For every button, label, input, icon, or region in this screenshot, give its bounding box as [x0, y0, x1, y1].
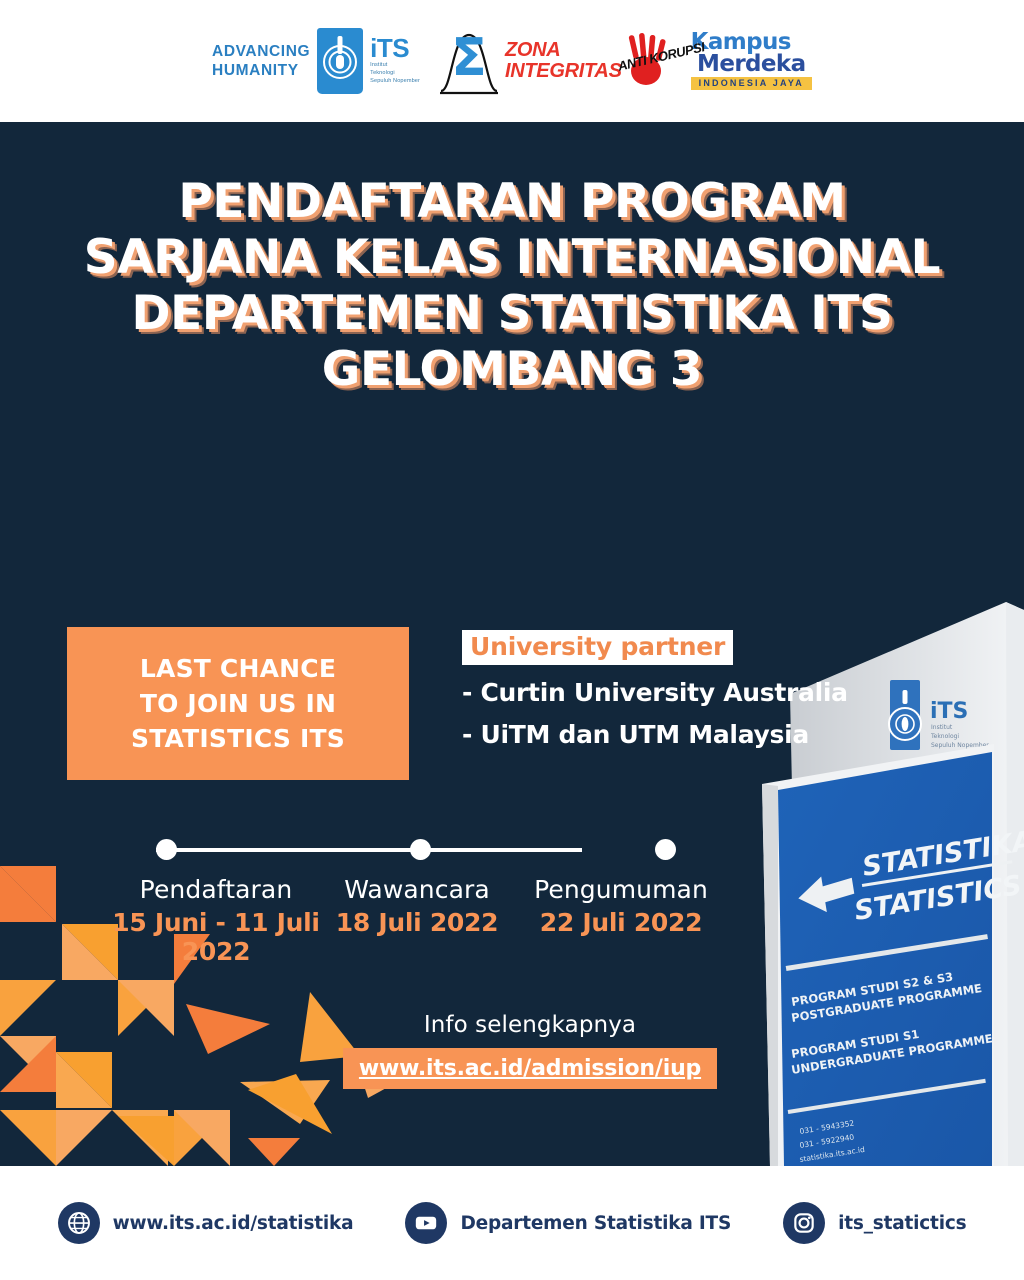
timeline-track	[110, 837, 730, 861]
partner-item-1: - Curtin University Australia	[462, 678, 892, 707]
its-gear-icon	[323, 45, 357, 79]
footer-website-label: www.its.ac.id/statistika	[113, 1213, 354, 1234]
timeline-step-2-date: 18 Juli 2022	[322, 908, 512, 937]
its-tagline-line1: ADVANCING	[212, 42, 310, 61]
university-partners: University partner - Curtin University A…	[462, 630, 892, 749]
timeline-labels: Pendaftaran 15 Juni - 11 Juli 2022 Wawan…	[110, 875, 730, 966]
last-chance-line-3: STATISTICS ITS	[131, 724, 345, 753]
headline-line-3: DEPARTEMEN STATISTIKA ITS	[0, 286, 1024, 342]
kampus-line2: Merdeka	[697, 54, 806, 75]
anti-korupsi-hand-icon: ANTI KORUPSI	[615, 33, 673, 89]
its-wordmark-group: iTS Institut Teknologi Sepuluh Nopember	[370, 36, 420, 85]
footer-item-website[interactable]: www.its.ac.id/statistika	[58, 1202, 354, 1244]
its-sub-line3: Sepuluh Nopember	[370, 77, 420, 85]
its-tagline: ADVANCING HUMANITY	[212, 42, 310, 81]
timeline-step-1-name: Pendaftaran	[110, 875, 322, 904]
headline-line-2: SARJANA KELAS INTERNASIONAL	[0, 230, 1024, 286]
timeline-dot-2	[410, 839, 431, 860]
timeline-step-3-date: 22 Juli 2022	[512, 908, 730, 937]
youtube-icon	[405, 1202, 447, 1244]
zona-line1: ZONA	[505, 40, 560, 61]
kampus-merdeka-logo: Kampus Merdeka INDONESIA JAYA	[691, 32, 812, 89]
partners-title: University partner	[462, 630, 733, 665]
sigma-glyph: Σ	[451, 32, 487, 84]
footer-bar: www.its.ac.id/statistika Departemen Stat…	[0, 1166, 1024, 1280]
timeline-step-1: Pendaftaran 15 Juni - 11 Juli 2022	[110, 875, 322, 966]
instagram-icon	[783, 1202, 825, 1244]
svg-text:iTS: iTS	[930, 699, 968, 724]
timeline-dot-1	[156, 839, 177, 860]
poster-headline: PENDAFTARAN PROGRAM SARJANA KELAS INTERN…	[0, 174, 1024, 398]
timeline-line	[156, 848, 582, 852]
footer-youtube-label: Departemen Statistika ITS	[460, 1213, 731, 1234]
youtube-glyph	[413, 1210, 439, 1236]
schedule-timeline: Pendaftaran 15 Juni - 11 Juli 2022 Wawan…	[110, 837, 730, 966]
last-chance-box: LAST CHANCE TO JOIN US IN STATISTICS ITS	[67, 627, 409, 780]
timeline-step-2-name: Wawancara	[322, 875, 512, 904]
globe-icon	[58, 1202, 100, 1244]
footer-instagram-label: its_statictics	[838, 1213, 966, 1234]
headline-line-4: GELOMBANG 3	[0, 342, 1024, 398]
last-chance-line-1: LAST CHANCE	[140, 654, 336, 683]
headline-line-1: PENDAFTARAN PROGRAM	[0, 174, 1024, 230]
timeline-step-3: Pengumuman 22 Juli 2022	[512, 875, 730, 966]
globe-glyph	[66, 1210, 92, 1236]
poster-root: ADVANCING HUMANITY iTS Institut Teknolog…	[0, 0, 1024, 1280]
timeline-dot-3	[655, 839, 676, 860]
its-logo: ADVANCING HUMANITY iTS Institut Teknolog…	[212, 28, 420, 94]
zona-wordmark: ZONA INTEGRITAS	[505, 40, 622, 82]
more-info-block: Info selengkapnya www.its.ac.id/admissio…	[330, 1012, 730, 1089]
footer-item-youtube[interactable]: Departemen Statistika ITS	[405, 1202, 731, 1244]
main-panel: iTS Institut Teknologi Sepuluh Nopember …	[0, 122, 1024, 1166]
its-sub-line2: Teknologi	[370, 69, 395, 77]
info-label: Info selengkapnya	[330, 1012, 730, 1038]
svg-text:Teknologi: Teknologi	[930, 733, 959, 740]
sigma-bellcurve-icon: Σ	[438, 25, 500, 97]
partner-item-2: - UiTM dan UTM Malaysia	[462, 720, 892, 749]
instagram-glyph	[791, 1210, 817, 1236]
timeline-step-3-name: Pengumuman	[512, 875, 730, 904]
zona-line2: INTEGRITAS	[505, 61, 622, 82]
admission-url-button[interactable]: www.its.ac.id/admission/iup	[343, 1048, 717, 1089]
top-logo-bar: ADVANCING HUMANITY iTS Institut Teknolog…	[0, 0, 1024, 122]
timeline-step-2: Wawancara 18 Juli 2022	[322, 875, 512, 966]
footer-item-instagram[interactable]: its_statictics	[783, 1202, 966, 1244]
timeline-step-1-date: 15 Juni - 11 Juli 2022	[110, 908, 322, 966]
its-shield-icon	[317, 28, 363, 94]
svg-text:Institut: Institut	[931, 724, 953, 731]
last-chance-line-2: TO JOIN US IN	[140, 689, 336, 718]
its-tagline-line2: HUMANITY	[212, 61, 299, 80]
zona-integritas-logo: Σ ZONA INTEGRITAS ANTI KORUPSI	[438, 25, 673, 97]
its-wordmark: iTS	[370, 36, 409, 61]
kampus-banner: INDONESIA JAYA	[691, 77, 812, 90]
its-sub-line1: Institut	[370, 61, 387, 69]
